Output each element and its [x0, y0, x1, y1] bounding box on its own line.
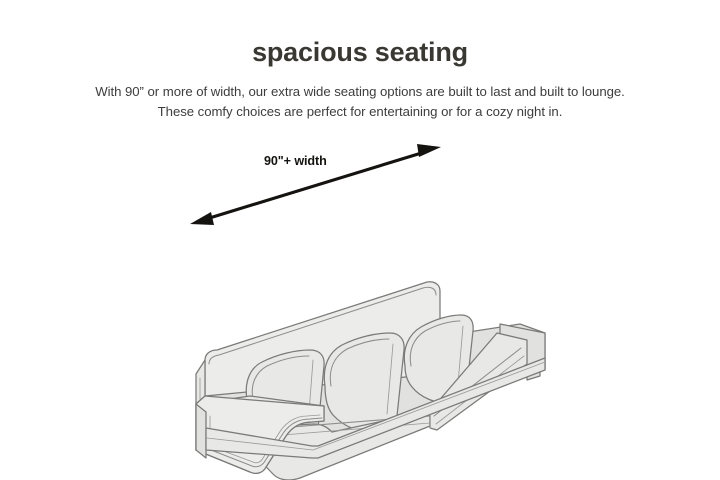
left-arm-front-face [196, 404, 206, 458]
dimension-label: 90"+ width [264, 154, 327, 168]
subtitle-line-1: With 90” or more of width, our extra wid… [0, 82, 720, 102]
sofa-svg: 90"+ width [0, 128, 720, 480]
dimension-arrow-head-right [417, 144, 441, 157]
page-title: spacious seating [0, 36, 720, 68]
sofa-group [196, 282, 545, 480]
subtitle-block: With 90” or more of width, our extra wid… [0, 82, 720, 122]
dimension-arrow-head-left [190, 212, 214, 225]
page-root: spacious seating With 90” or more of wid… [0, 0, 720, 480]
subtitle-line-2: These comfy choices are perfect for ente… [0, 102, 720, 122]
sofa-illustration: 90"+ width [0, 128, 720, 480]
